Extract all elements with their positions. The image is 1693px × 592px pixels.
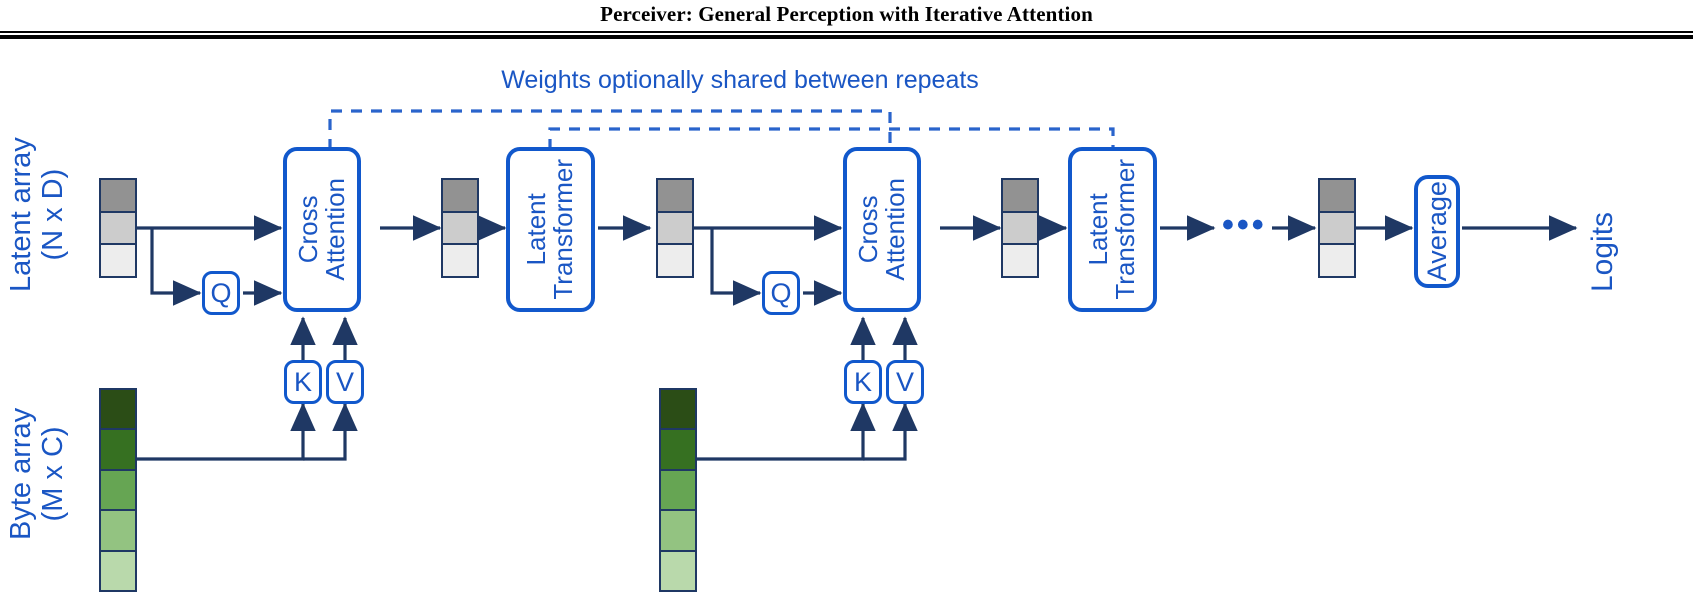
array-cell	[661, 511, 695, 551]
array-cell	[101, 552, 135, 590]
byte-array-label-line1: Byte array	[6, 408, 38, 540]
v-projection-2[interactable]: V	[886, 360, 924, 404]
header-rule-thick	[0, 35, 1693, 39]
latent-transformer-block-2[interactable]: Latent Transformer	[1068, 147, 1157, 312]
header-rule-thin	[0, 31, 1693, 33]
k-projection-1[interactable]: K	[284, 360, 322, 404]
array-cell	[101, 471, 135, 511]
latent-array-label-line1: Latent array	[6, 137, 38, 292]
array-cell	[1320, 245, 1354, 276]
latent-array-stage-2	[656, 178, 694, 278]
k-projection-2[interactable]: K	[844, 360, 882, 404]
average-block-label: Average	[1423, 181, 1451, 281]
module-label-line2: Attention	[882, 178, 909, 281]
array-cell	[1003, 245, 1037, 276]
logits-output-label: Logits	[1586, 212, 1620, 292]
latent-array-label-line2: (N x D)	[38, 137, 70, 292]
array-cell	[443, 245, 477, 276]
array-cell	[1320, 180, 1354, 213]
q-projection-2-label: Q	[770, 278, 791, 309]
array-cell	[1003, 213, 1037, 246]
cross-attention-block-1[interactable]: Cross Attention	[283, 147, 361, 312]
module-label-line1: Average	[1423, 181, 1451, 281]
module-label-line1: Latent	[1085, 159, 1112, 300]
module-label-line2: Transformer	[551, 159, 578, 300]
array-cell	[101, 430, 135, 470]
array-cell	[101, 390, 135, 430]
latent-transformer-block-1[interactable]: Latent Transformer	[506, 147, 595, 312]
latent-array-final	[1318, 178, 1356, 278]
v-projection-1[interactable]: V	[326, 360, 364, 404]
array-cell	[658, 213, 692, 246]
page-title: Perceiver: General Perception with Itera…	[0, 2, 1693, 27]
latent-array-label: Latent array (N x D)	[6, 137, 70, 292]
latent-array-input	[99, 178, 137, 278]
figure-canvas: Perceiver: General Perception with Itera…	[0, 0, 1693, 592]
array-cell	[101, 213, 135, 246]
cross-attention-block-1-label: Cross Attention	[295, 178, 350, 281]
array-cell	[101, 180, 135, 213]
array-cell	[1320, 213, 1354, 246]
latent-array-stage-3	[1001, 178, 1039, 278]
repeat-ellipsis: •••	[1222, 208, 1267, 242]
average-block[interactable]: Average	[1414, 175, 1460, 288]
module-label-line1: Cross	[295, 178, 322, 281]
array-cell	[101, 511, 135, 551]
latent-transformer-block-1-label: Latent Transformer	[523, 159, 578, 300]
cross-attention-block-2-label: Cross Attention	[855, 178, 910, 281]
array-cell	[661, 471, 695, 511]
q-projection-2[interactable]: Q	[762, 271, 800, 315]
byte-array-input-1	[99, 388, 137, 592]
byte-array-label-line2: (M x C)	[38, 408, 70, 540]
cross-attention-block-2[interactable]: Cross Attention	[843, 147, 921, 312]
latent-transformer-block-2-label: Latent Transformer	[1085, 159, 1140, 300]
array-cell	[443, 213, 477, 246]
byte-array-input-2	[659, 388, 697, 592]
array-cell	[1003, 180, 1037, 213]
shared-weights-caption: Weights optionally shared between repeat…	[460, 66, 1020, 95]
array-cell	[443, 180, 477, 213]
module-label-line2: Transformer	[1113, 159, 1140, 300]
array-cell	[101, 245, 135, 276]
array-cell	[658, 180, 692, 213]
module-label-line2: Attention	[322, 178, 349, 281]
v-projection-1-label: V	[336, 367, 354, 398]
module-label-line1: Cross	[855, 178, 882, 281]
k-projection-2-label: K	[854, 367, 872, 398]
k-projection-1-label: K	[294, 367, 312, 398]
array-cell	[661, 430, 695, 470]
q-projection-1[interactable]: Q	[202, 271, 240, 315]
byte-array-label: Byte array (M x C)	[6, 408, 70, 540]
array-cell	[661, 552, 695, 590]
array-cell	[658, 245, 692, 276]
module-label-line1: Latent	[523, 159, 550, 300]
v-projection-2-label: V	[896, 367, 914, 398]
latent-array-stage-1	[441, 178, 479, 278]
array-cell	[661, 390, 695, 430]
q-projection-1-label: Q	[210, 278, 231, 309]
